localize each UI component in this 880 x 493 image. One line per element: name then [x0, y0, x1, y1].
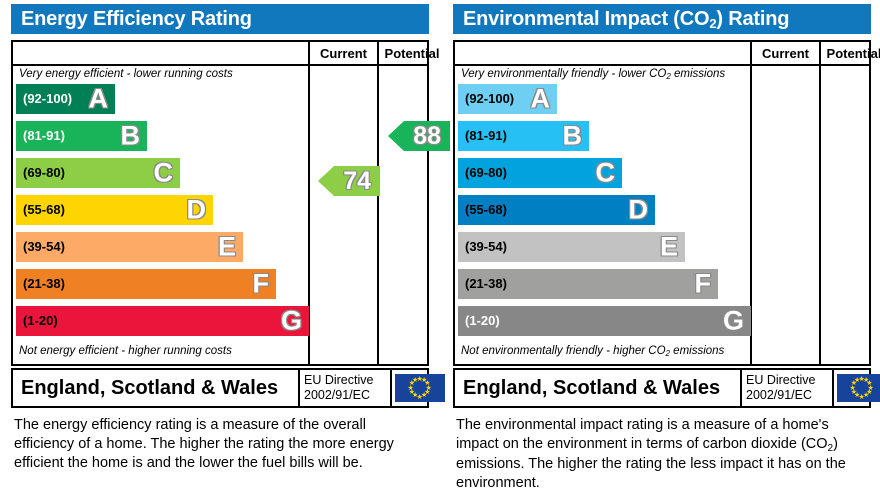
- band-range-label: (55-68): [23, 195, 65, 225]
- band-f: (21-38)F: [16, 269, 276, 299]
- band-range-label: (69-80): [23, 158, 65, 188]
- panel-title-suffix: ) Rating: [716, 8, 789, 30]
- band-range-label: (21-38): [23, 269, 65, 299]
- band-e: (39-54)E: [458, 232, 685, 262]
- band-range-label: (1-20): [465, 306, 500, 336]
- chart-body: Very energy efficient - lower running co…: [13, 66, 427, 364]
- eu-flag-icon: ★★★★★★★★★★★★: [837, 374, 880, 402]
- energy-efficiency-chart: Current Potential Very energy efficient …: [11, 40, 429, 366]
- eu-flag-icon: ★★★★★★★★★★★★: [395, 374, 445, 402]
- band-letter-label: F: [695, 271, 712, 298]
- band-letter-label: D: [629, 197, 649, 224]
- footer-directive-line2: 2002/91/EC: [746, 388, 832, 403]
- footer-divider-1: [740, 370, 742, 406]
- environmental-impact-title: Environmental Impact (CO2) Rating: [453, 4, 871, 34]
- footer-directive: EU Directive 2002/91/EC: [304, 373, 390, 403]
- caption-top: Very energy efficient - lower running co…: [19, 68, 233, 80]
- band-a: (92-100)A: [16, 84, 115, 114]
- band-letter-label: A: [531, 86, 551, 113]
- footer-divider-2: [390, 370, 392, 406]
- caption-bottom-sub: 2: [666, 349, 670, 358]
- band-range-label: (21-38): [465, 269, 507, 299]
- band-letter-label: B: [563, 123, 583, 150]
- footer-region-label: England, Scotland & Wales: [21, 370, 278, 406]
- caption-top-post: emissions: [671, 68, 725, 80]
- footer-directive: EU Directive 2002/91/EC: [746, 373, 832, 403]
- footer-directive-line2: 2002/91/EC: [304, 388, 390, 403]
- panel-title-text: Energy Efficiency Rating: [21, 8, 252, 30]
- footer-region-label: England, Scotland & Wales: [463, 370, 720, 406]
- band-letter-label: E: [218, 234, 236, 261]
- environmental-impact-description: The environmental impact rating is a mea…: [456, 416, 868, 493]
- footer-divider-1: [298, 370, 300, 406]
- band-g: (1-20)G: [16, 306, 309, 336]
- band-letter-label: F: [253, 271, 270, 298]
- description-sub: 2: [828, 443, 834, 454]
- band-range-label: (39-54): [23, 232, 65, 262]
- footer-directive-line1: EU Directive: [304, 373, 390, 388]
- chart-column-header-row: Current Potential: [455, 42, 869, 66]
- chart-column-header-row: Current Potential: [13, 42, 427, 66]
- column-header-potential: Potential: [821, 42, 880, 66]
- band-d: (55-68)D: [16, 195, 213, 225]
- rating-arrow-potential: 88: [388, 121, 450, 151]
- band-b: (81-91)B: [16, 121, 147, 151]
- energy-efficiency-panel: Energy Efficiency Rating Current Potenti…: [0, 0, 438, 493]
- eu-star-icon: ★: [854, 377, 860, 384]
- footer-bar: England, Scotland & Wales EU Directive 2…: [453, 368, 871, 408]
- band-letter-label: A: [89, 86, 109, 113]
- body-divider-2: [377, 66, 379, 364]
- band-d: (55-68)D: [458, 195, 655, 225]
- column-header-potential: Potential: [379, 42, 445, 66]
- caption-bottom-pre: Not environmentally friendly - higher CO: [461, 345, 666, 357]
- environmental-impact-panel: Environmental Impact (CO2) Rating Curren…: [442, 0, 880, 493]
- band-c: (69-80)C: [16, 158, 180, 188]
- band-range-label: (92-100): [23, 84, 72, 114]
- band-letter-label: C: [154, 160, 174, 187]
- band-letter-label: E: [660, 234, 678, 261]
- band-c: (69-80)C: [458, 158, 622, 188]
- footer-bar: England, Scotland & Wales EU Directive 2…: [11, 368, 429, 408]
- epc-chart-page: Energy Efficiency Rating Current Potenti…: [0, 0, 880, 493]
- chart-body: Very environmentally friendly - lower CO…: [455, 66, 869, 364]
- band-letter-label: B: [121, 123, 141, 150]
- band-range-label: (81-91): [23, 121, 65, 151]
- band-range-label: (55-68): [465, 195, 507, 225]
- band-letter-label: G: [281, 308, 302, 335]
- body-divider-2: [819, 66, 821, 364]
- panel-title-text: Environmental Impact (CO: [463, 8, 709, 30]
- band-letter-label: C: [596, 160, 616, 187]
- panel-title-subscript: 2: [709, 16, 716, 31]
- band-b: (81-91)B: [458, 121, 589, 151]
- rating-arrow-current: 74: [318, 166, 380, 196]
- description-pre: The environmental impact rating is a mea…: [456, 417, 829, 452]
- footer-divider-2: [832, 370, 834, 406]
- energy-efficiency-description: The energy efficiency rating is a measur…: [14, 416, 426, 473]
- caption-top-pre: Very environmentally friendly - lower CO: [461, 68, 666, 80]
- environmental-impact-chart: Current Potential Very environmentally f…: [453, 40, 871, 366]
- caption-top-sub: 2: [666, 72, 670, 81]
- caption-bottom-post: emissions: [670, 345, 724, 357]
- band-range-label: (39-54): [465, 232, 507, 262]
- band-range-label: (69-80): [465, 158, 507, 188]
- band-letter-label: D: [187, 197, 207, 224]
- band-g: (1-20)G: [458, 306, 751, 336]
- band-e: (39-54)E: [16, 232, 243, 262]
- caption-bottom: Not environmentally friendly - higher CO…: [461, 345, 724, 357]
- band-range-label: (1-20): [23, 306, 58, 336]
- caption-bottom: Not energy efficient - higher running co…: [19, 345, 232, 357]
- column-header-current: Current: [752, 42, 819, 66]
- band-a: (92-100)A: [458, 84, 557, 114]
- band-range-label: (81-91): [465, 121, 507, 151]
- band-letter-label: G: [723, 308, 744, 335]
- caption-top: Very environmentally friendly - lower CO…: [461, 68, 725, 80]
- column-header-current: Current: [310, 42, 377, 66]
- energy-efficiency-title: Energy Efficiency Rating: [11, 4, 429, 34]
- eu-star-icon: ★: [412, 377, 418, 384]
- band-f: (21-38)F: [458, 269, 718, 299]
- footer-directive-line1: EU Directive: [746, 373, 832, 388]
- band-range-label: (92-100): [465, 84, 514, 114]
